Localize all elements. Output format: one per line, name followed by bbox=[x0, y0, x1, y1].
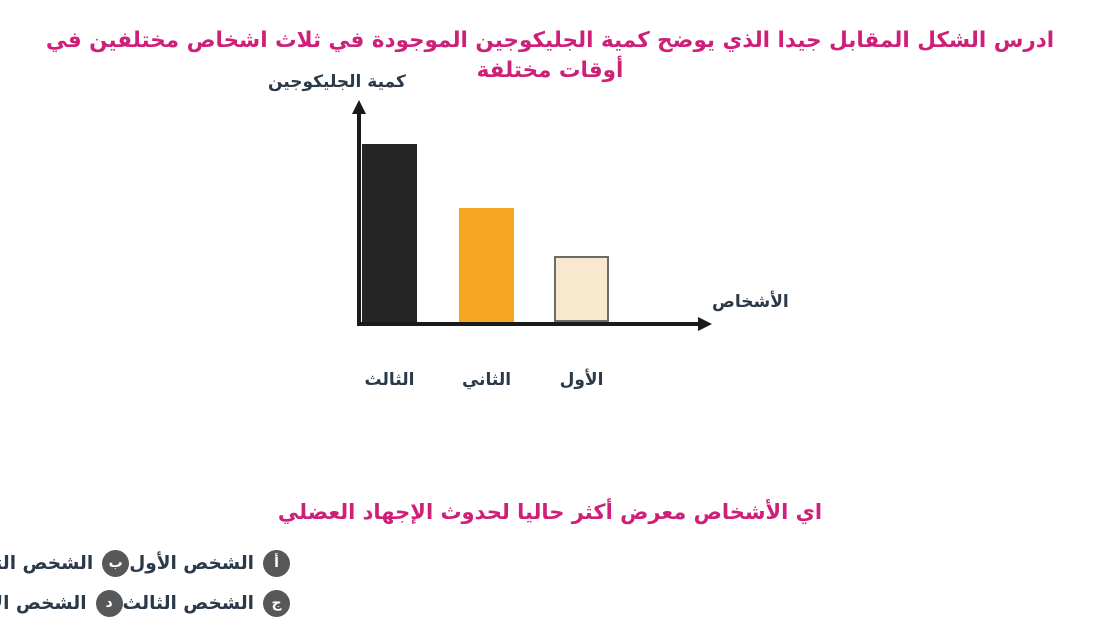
x-axis-label: الأشخاص bbox=[712, 292, 789, 312]
answer-option-d[interactable]: د الشخص الأول والثالث bbox=[0, 590, 123, 617]
answer-options-row-1: أ الشخص الأول ب الشخص التاني bbox=[0, 543, 1100, 583]
answer-option-a[interactable]: أ الشخص الأول bbox=[129, 550, 290, 577]
option-d-label: الشخص الأول والثالث bbox=[0, 593, 87, 614]
bar-column bbox=[362, 144, 417, 322]
bar-category-label: الثالث bbox=[350, 370, 429, 390]
option-d-badge-icon: د bbox=[96, 590, 123, 617]
glycogen-bar-chart: كمية الجليكوجين الأشخاص الثالثالثانيالأو… bbox=[0, 70, 1100, 360]
bar-category-label: الثاني bbox=[447, 370, 526, 390]
answer-option-b[interactable]: ب الشخص التاني bbox=[0, 550, 129, 577]
bar-2 bbox=[459, 208, 514, 322]
bars-area: الثالثالثانيالأول bbox=[357, 110, 702, 324]
bar-column bbox=[554, 256, 609, 322]
bar-column bbox=[459, 208, 514, 322]
option-c-badge-icon: ج bbox=[263, 590, 290, 617]
answer-options-row-2: ج الشخص الثالث د الشخص الأول والثالث bbox=[0, 583, 1100, 623]
worksheet-page: ادرس الشكل المقابل جيدا الذي يوضح كمية ا… bbox=[0, 0, 1100, 628]
option-c-label: الشخص الثالث bbox=[123, 593, 254, 614]
answer-option-c[interactable]: ج الشخص الثالث bbox=[123, 590, 290, 617]
y-axis-label: كمية الجليكوجين bbox=[268, 72, 406, 92]
answer-options: أ الشخص الأول ب الشخص التاني ج الشخص الث… bbox=[0, 543, 1100, 623]
option-b-badge-icon: ب bbox=[102, 550, 129, 577]
bar-1 bbox=[362, 144, 417, 322]
option-b-label: الشخص التاني bbox=[0, 553, 93, 574]
bar-3 bbox=[554, 256, 609, 322]
bar-category-label: الأول bbox=[542, 370, 621, 390]
sub-question-text: اي الأشخاص معرض أكثر حاليا لحدوث الإجهاد… bbox=[0, 500, 1100, 524]
option-a-badge-icon: أ bbox=[263, 550, 290, 577]
option-a-label: الشخص الأول bbox=[129, 553, 254, 574]
